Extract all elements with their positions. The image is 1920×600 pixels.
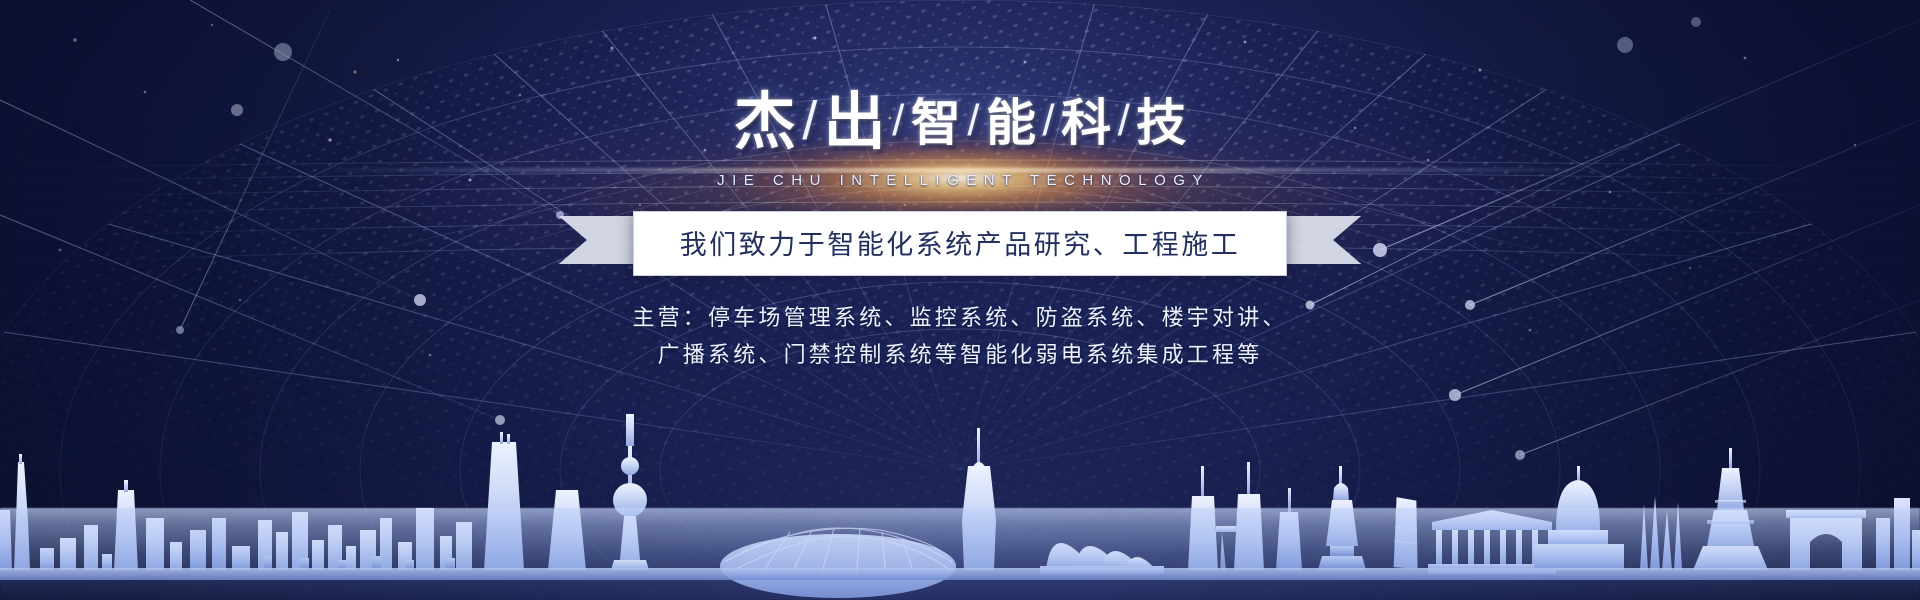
- description-line-2: 广播系统、门禁控制系统等智能化弱电系统集成工程等: [0, 336, 1920, 373]
- title-char-4: 能: [986, 84, 1036, 162]
- title-separator-5: /: [1116, 82, 1132, 160]
- title-char-6: 技: [1136, 84, 1186, 162]
- title-char-1: 杰: [734, 84, 796, 162]
- title-char-3: 智: [911, 84, 961, 162]
- title-separator-2: /: [890, 82, 906, 160]
- title-separator-3: /: [965, 82, 981, 160]
- ribbon-tail-left-icon: [559, 216, 637, 264]
- title-separator-1: /: [800, 82, 819, 160]
- banner-content: 杰 / 出 / 智 / 能 / 科 / 技 JIE CHU INTELLIGEN…: [0, 0, 1920, 373]
- title-char-5: 科: [1061, 84, 1111, 162]
- company-title: 杰 / 出 / 智 / 能 / 科 / 技: [0, 84, 1920, 162]
- description-line-1: 主营：停车场管理系统、监控系统、防盗系统、楼宇对讲、: [0, 299, 1920, 336]
- title-separator-4: /: [1040, 82, 1056, 160]
- title-char-2: 出: [824, 84, 886, 162]
- ribbon-slogan-text: 我们致力于智能化系统产品研究、工程施工: [680, 223, 1241, 262]
- ribbon-tail-right-icon: [1283, 216, 1361, 264]
- business-description: 主营：停车场管理系统、监控系统、防盗系统、楼宇对讲、 广播系统、门禁控制系统等智…: [0, 299, 1920, 373]
- english-subtitle: JIE CHU INTELLIGENT TECHNOLOGY: [0, 172, 1920, 189]
- ribbon-box: 我们致力于智能化系统产品研究、工程施工: [633, 211, 1288, 276]
- slogan-ribbon: 我们致力于智能化系统产品研究、工程施工: [633, 211, 1288, 269]
- hero-banner: 杰 / 出 / 智 / 能 / 科 / 技 JIE CHU INTELLIGEN…: [0, 0, 1920, 600]
